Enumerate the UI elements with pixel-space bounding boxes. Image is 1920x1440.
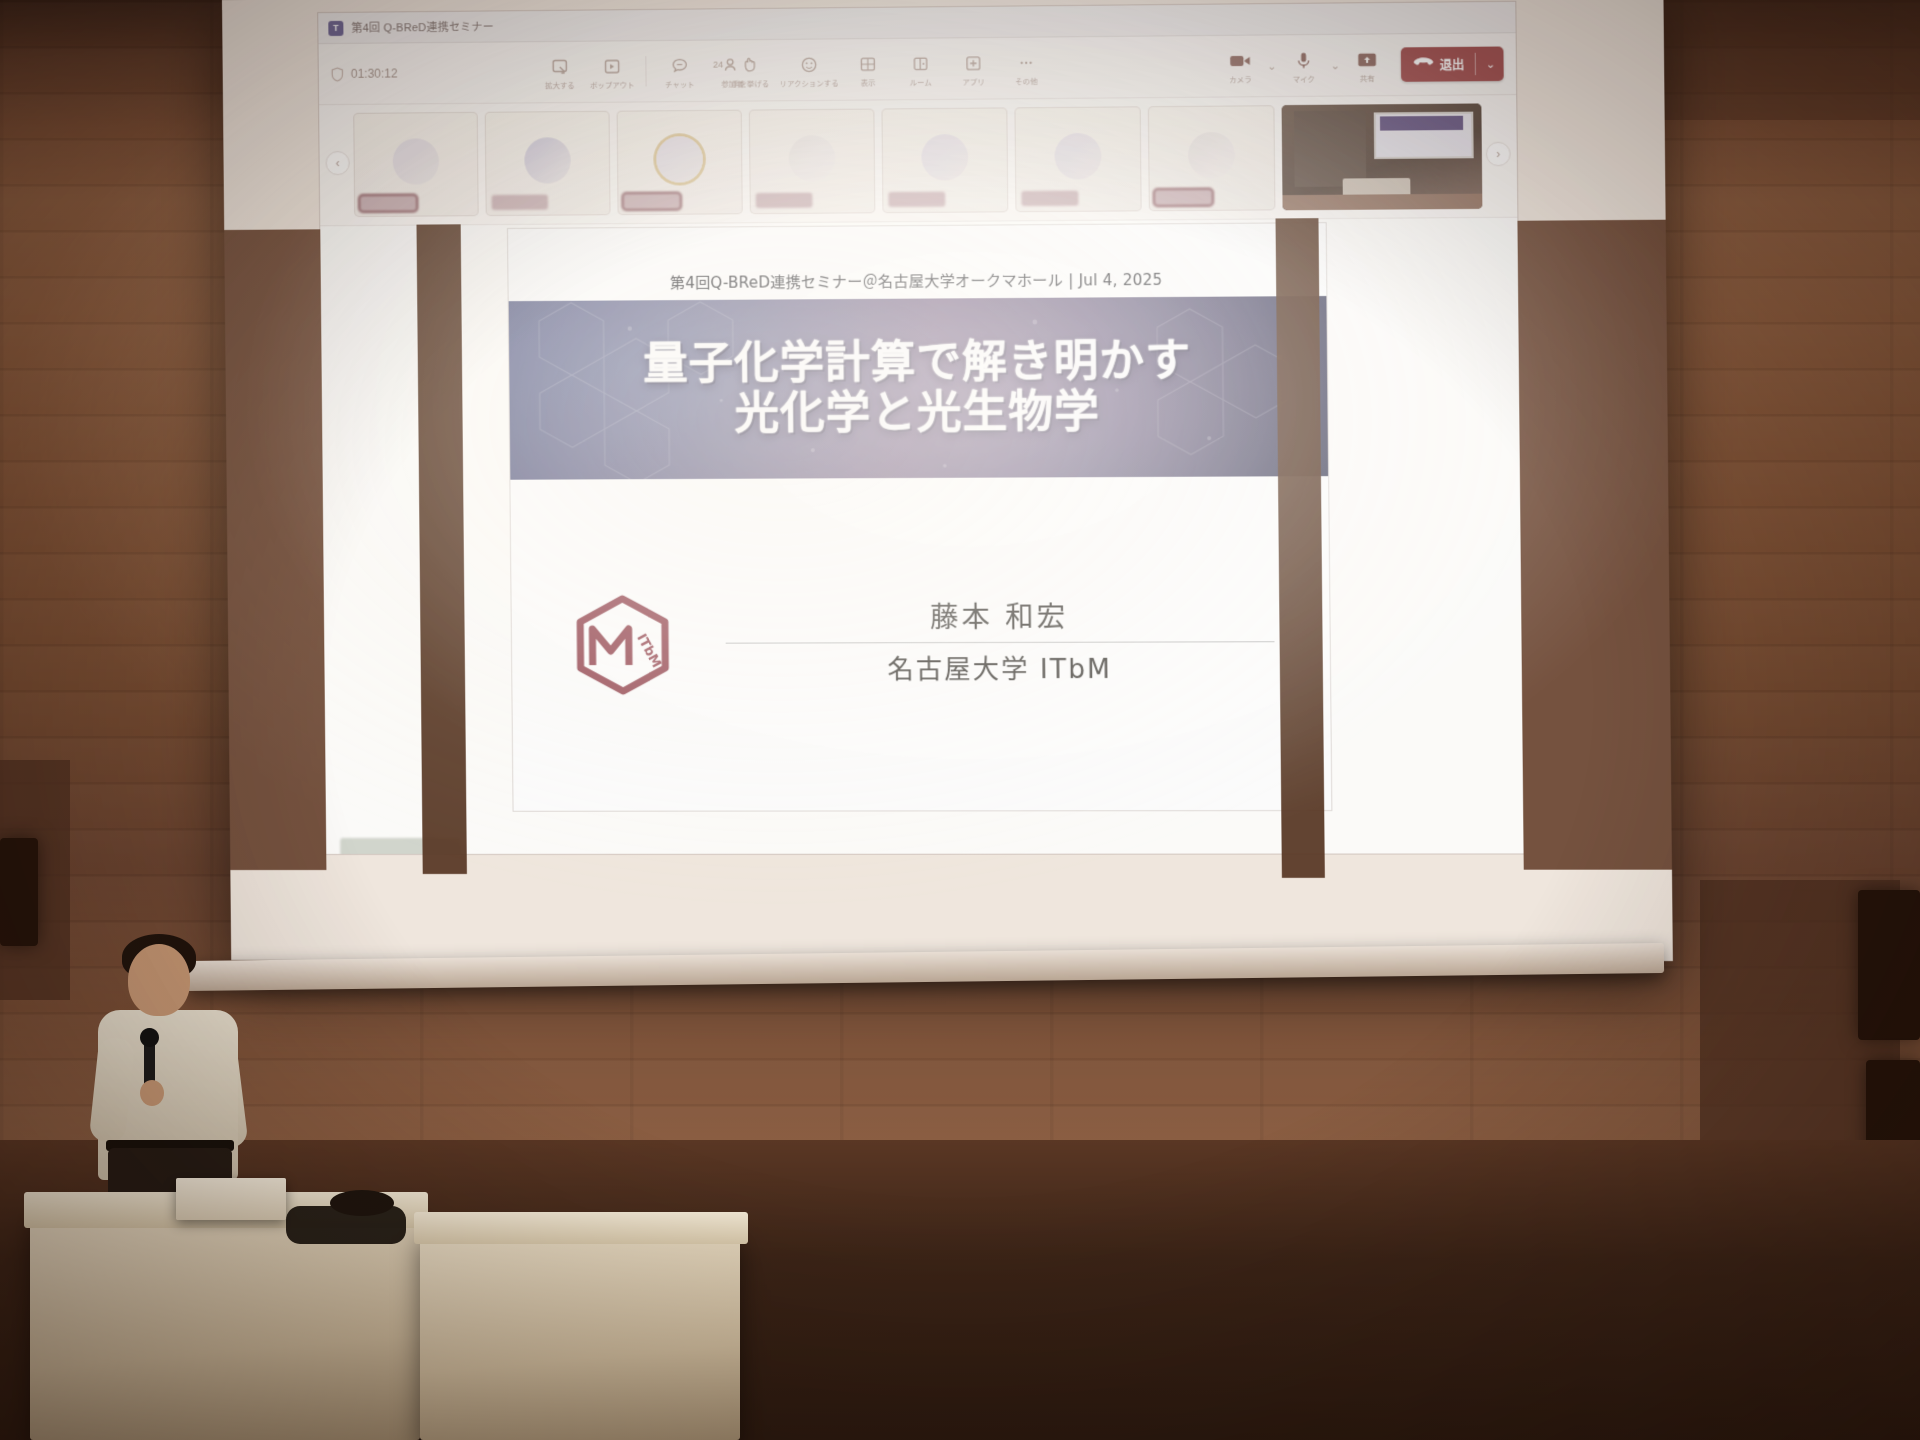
chat-icon <box>669 55 691 77</box>
microphone-capsule <box>140 1028 159 1047</box>
hang-up-icon <box>1413 55 1434 73</box>
slide-byline-area: ITbM 藤本 和宏 名古屋大学 ITbM <box>510 476 1331 811</box>
chevron-left-icon[interactable]: ‹ <box>326 151 350 175</box>
toolbar-label: 表示 <box>861 78 876 88</box>
toolbar-center-group: 拡大する ポップアウト <box>534 37 1052 102</box>
microphone-icon <box>1291 49 1316 71</box>
toolbar-item-chat[interactable]: チャット <box>654 52 705 91</box>
camera-label: カメラ <box>1229 74 1252 84</box>
podium-right-surface <box>414 1212 748 1244</box>
chevron-right-icon[interactable]: › <box>1486 142 1511 167</box>
leave-chevron-down-icon[interactable]: ⌄ <box>1486 57 1496 70</box>
teams-meeting-window: T 第4回 Q-BReD連携セミナー 01:30:12 <box>318 2 1523 854</box>
participant-tile[interactable] <box>1014 106 1141 212</box>
camera-icon <box>1228 50 1253 72</box>
byline: 藤本 和宏 名古屋大学 ITbM <box>725 595 1275 693</box>
participant-tile[interactable] <box>485 111 611 216</box>
participant-roster-strip: ‹ <box>319 95 1517 226</box>
teams-logo-icon: T <box>328 20 343 35</box>
participant-name-redacted <box>756 193 813 209</box>
apps-plus-icon <box>962 52 985 74</box>
participant-tile[interactable] <box>881 107 1008 213</box>
avatar <box>524 137 571 184</box>
toolbar-item-rooms[interactable]: ルーム <box>895 49 946 88</box>
toolbar-label: その他 <box>1015 76 1038 86</box>
byline-divider <box>726 641 1275 643</box>
room-camera-tile[interactable] <box>1282 103 1483 210</box>
avatar <box>921 134 968 181</box>
toolbar-item-raise-hand[interactable]: 手を挙げる <box>725 51 776 90</box>
reaction-emoji-icon <box>798 54 820 76</box>
cable-loop <box>330 1190 394 1216</box>
leave-meeting-button[interactable]: 退出 ⌄ <box>1401 46 1504 81</box>
presenter-person <box>86 930 266 1210</box>
podium-left <box>30 1210 420 1440</box>
avatar <box>393 138 440 184</box>
slide-title-line-2: 光化学と光生物学 <box>734 387 1100 439</box>
toolbar-label: 手を挙げる <box>732 79 769 89</box>
window-title: 第4回 Q-BReD連携セミナー <box>351 18 494 35</box>
presenter-head <box>128 944 190 1016</box>
raise-hand-icon <box>739 54 761 76</box>
presentation-slide: 第4回Q-BReD連携セミナー＠名古屋大学オークマホール | Jul 4, 20… <box>508 223 1331 811</box>
slide-affiliation: 名古屋大学 ITbM <box>887 649 1112 687</box>
toolbar-right-group: カメラ ⌄ マイク ⌄ <box>1216 33 1504 96</box>
toolbar-label: リアクションする <box>780 78 839 89</box>
shared-content-stage: 第4回Q-BReD連携セミナー＠名古屋大学オークマホール | Jul 4, 20… <box>320 218 1523 854</box>
meeting-toolbar: 01:30:12 拡大する <box>318 33 1516 105</box>
slide-title-line-1: 量子化学計算で解き明かす <box>643 337 1191 390</box>
expand-icon <box>549 56 571 78</box>
microphone-label: マイク <box>1292 74 1315 84</box>
microphone-button[interactable]: マイク <box>1280 46 1327 85</box>
share-label: 共有 <box>1359 73 1374 83</box>
participant-name-redacted <box>888 192 945 208</box>
pa-speaker-left <box>0 838 38 946</box>
toolbar-label: ルーム <box>910 77 932 87</box>
participant-name-redacted <box>623 194 680 209</box>
microphone-chevron-down-icon[interactable]: ⌄ <box>1327 45 1344 86</box>
toolbar-item-view[interactable]: 表示 <box>842 50 893 89</box>
participant-name-redacted <box>1155 190 1212 206</box>
participant-name-redacted <box>360 196 416 211</box>
slide-eyebrow-text: 第4回Q-BReD連携セミナー＠名古屋大学オークマホール | Jul 4, 20… <box>508 268 1326 295</box>
participant-tile[interactable] <box>353 112 478 217</box>
leave-button-divider <box>1474 53 1475 75</box>
camera-button[interactable]: カメラ <box>1216 47 1263 86</box>
avatar <box>656 136 703 183</box>
toolbar-label: チャット <box>665 79 695 89</box>
toolbar-item-reactions[interactable]: リアクションする <box>778 50 841 89</box>
presenter-hand <box>140 1080 164 1106</box>
participant-count-badge: 24 <box>713 60 723 70</box>
share-screen-icon <box>1354 49 1379 71</box>
slide-speaker-name: 藤本 和宏 <box>930 595 1069 636</box>
toolbar-divider <box>645 56 646 86</box>
lecture-hall-photo: T 第4回 Q-BReD連携セミナー 01:30:12 <box>0 0 1920 1440</box>
shield-icon <box>331 66 344 81</box>
itbm-logo-text: ITbM <box>633 632 664 671</box>
pop-out-icon <box>601 55 623 77</box>
laptop-on-podium <box>176 1178 286 1220</box>
podium-right <box>420 1230 740 1440</box>
participant-tile[interactable] <box>749 109 876 215</box>
screen-column-shadow-right <box>1276 218 1325 878</box>
more-ellipsis-icon <box>1015 52 1038 74</box>
projection-screen-assembly: T 第4回 Q-BReD連携セミナー 01:30:12 <box>222 0 1642 1010</box>
toolbar-item-apps[interactable]: アプリ <box>948 49 999 88</box>
toolbar-item-popout[interactable]: ポップアウト <box>587 52 638 91</box>
leave-button-label: 退出 <box>1440 55 1465 72</box>
screen-left-shadow-band <box>224 229 326 870</box>
participant-tile[interactable] <box>1148 105 1276 211</box>
pa-speaker-right <box>1858 890 1920 1040</box>
share-button[interactable]: 共有 <box>1343 45 1390 84</box>
participant-name-redacted <box>492 195 548 210</box>
screen-right-shadow-band <box>1517 220 1672 870</box>
itbm-logo: ITbM <box>566 589 680 702</box>
toolbar-item-more[interactable]: その他 <box>1001 49 1052 88</box>
slide-title-banner: 量子化学計算で解き明かす 光化学と光生物学 <box>509 296 1328 480</box>
toolbar-label: ポップアウト <box>590 80 635 91</box>
projection-screen-surface: T 第4回 Q-BReD連携セミナー 01:30:12 <box>222 0 1673 961</box>
avatar <box>1188 132 1235 179</box>
screen-column-shadow-left <box>416 224 466 874</box>
meeting-timer: 01:30:12 <box>331 65 482 81</box>
timer-value: 01:30:12 <box>351 66 398 80</box>
avatar <box>789 135 836 182</box>
participant-tile-speaking[interactable] <box>617 110 743 215</box>
toolbar-item-expand[interactable]: 拡大する <box>534 53 585 92</box>
participant-name-redacted <box>1021 191 1078 207</box>
breakout-rooms-icon <box>909 53 932 75</box>
avatar <box>1054 133 1101 180</box>
toolbar-label: 拡大する <box>545 80 575 90</box>
toolbar-label: アプリ <box>962 77 985 87</box>
camera-chevron-down-icon[interactable]: ⌄ <box>1263 45 1280 86</box>
view-grid-icon <box>857 53 880 75</box>
